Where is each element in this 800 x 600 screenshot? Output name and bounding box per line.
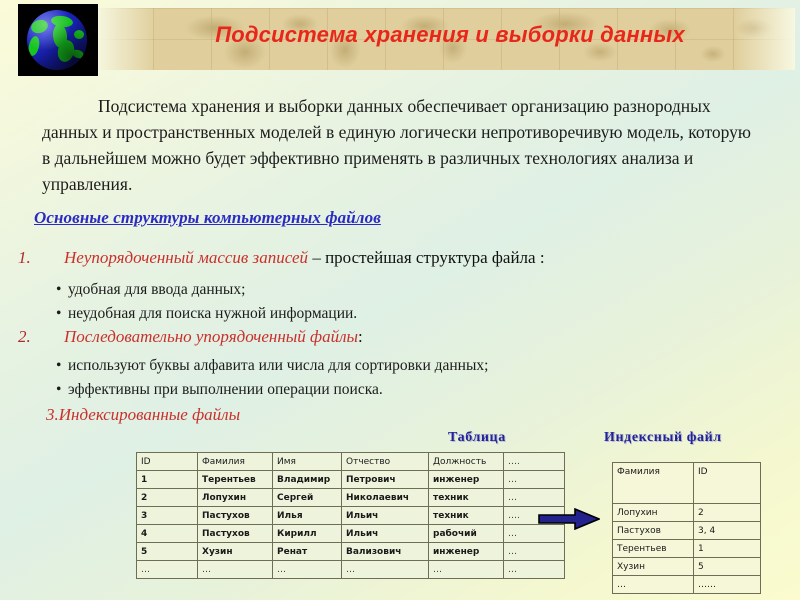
bullet-text: эффективны при выполнении операции поиск… <box>68 381 383 398</box>
table-header-row: Фамилия ID <box>613 463 761 504</box>
cell-firstname: Ренат <box>273 543 342 561</box>
bullet-item: •неудобная для поиска нужной информации. <box>56 305 357 323</box>
cell-surname: Лопухин <box>613 504 694 522</box>
cell-more: … <box>504 471 565 489</box>
list-item-number: 2. <box>18 327 64 347</box>
cell-surname: Терентьев <box>198 471 273 489</box>
cell-id: 3 <box>137 507 198 525</box>
globe-shading <box>27 10 87 70</box>
cell-id: 5 <box>694 558 761 576</box>
column-header: Должность <box>429 453 504 471</box>
list-item-number: 1. <box>18 248 64 268</box>
cell-more: … <box>504 543 565 561</box>
cell-id: …… <box>694 576 761 594</box>
index-file-caption: Индексный файл <box>604 430 722 446</box>
list-item-emphasis: Индексированные файлы <box>59 405 240 424</box>
cell-firstname: … <box>273 561 342 579</box>
bullet-glyph: • <box>56 381 68 399</box>
cell-position: техник <box>429 489 504 507</box>
table-header-row: ID Фамилия Имя Отчество Должность …. <box>137 453 565 471</box>
bullet-text: неудобная для поиска нужной информации. <box>68 305 357 322</box>
bullet-glyph: • <box>56 357 68 375</box>
cell-position: техник <box>429 507 504 525</box>
column-header: Отчество <box>342 453 429 471</box>
cell-id: 2 <box>137 489 198 507</box>
list-item-emphasis: Последовательно упорядоченный файлы <box>64 327 358 346</box>
list-item: 1.Неупорядоченный массив записей – прост… <box>18 248 778 268</box>
section-heading: Основные структуры компьютерных файлов <box>34 208 381 228</box>
cell-position: … <box>429 561 504 579</box>
table-row: 4 Пастухов Кирилл Ильич рабочий … <box>137 525 565 543</box>
cell-id: … <box>137 561 198 579</box>
table-row: … … … … … … <box>137 561 565 579</box>
column-header: ID <box>694 463 761 504</box>
cell-firstname: Сергей <box>273 489 342 507</box>
records-table: ID Фамилия Имя Отчество Должность …. 1 Т… <box>136 452 565 579</box>
bullet-glyph: • <box>56 305 68 323</box>
cell-position: инженер <box>429 543 504 561</box>
table-row: 5 Хузин Ренат Вализович инженер … <box>137 543 565 561</box>
cell-id: 2 <box>694 504 761 522</box>
right-arrow-icon <box>538 508 600 530</box>
cell-patronymic: Николаевич <box>342 489 429 507</box>
table-row: 2 Лопухин Сергей Николаевич техник … <box>137 489 565 507</box>
table-row: 1 Терентьев Владимир Петрович инженер … <box>137 471 565 489</box>
cell-firstname: Кирилл <box>273 525 342 543</box>
page-title: Подсистема хранения и выборки данных <box>110 22 790 48</box>
records-table-body: ID Фамилия Имя Отчество Должность …. 1 Т… <box>137 453 565 579</box>
cell-patronymic: … <box>342 561 429 579</box>
globe-sphere <box>27 10 87 70</box>
table-caption: Таблица <box>448 430 506 446</box>
cell-patronymic: Ильич <box>342 507 429 525</box>
cell-id: 4 <box>137 525 198 543</box>
cell-firstname: Илья <box>273 507 342 525</box>
cell-position: рабочий <box>429 525 504 543</box>
cell-more: … <box>504 561 565 579</box>
cell-position: инженер <box>429 471 504 489</box>
table-row: 3 Пастухов Илья Ильич техник …. <box>137 507 565 525</box>
cell-patronymic: Ильич <box>342 525 429 543</box>
cell-id: 1 <box>694 540 761 558</box>
cell-surname: … <box>613 576 694 594</box>
cell-surname: Лопухин <box>198 489 273 507</box>
list-item-number: 3. <box>46 405 59 424</box>
cell-surname: Пастухов <box>198 507 273 525</box>
cell-id: 3, 4 <box>694 522 761 540</box>
list-item: 2.Последовательно упорядоченный файлы: <box>18 327 778 347</box>
bullet-item: •используют буквы алфавита или числа для… <box>56 357 488 375</box>
cell-patronymic: Вализович <box>342 543 429 561</box>
table-row: Лопухин 2 <box>613 504 761 522</box>
table-row: … …… <box>613 576 761 594</box>
cell-surname: Пастухов <box>613 522 694 540</box>
cell-surname: Терентьев <box>613 540 694 558</box>
bullet-glyph: • <box>56 281 68 299</box>
cell-surname: Хузин <box>613 558 694 576</box>
cell-id: 1 <box>137 471 198 489</box>
bullet-item: •удобная для ввода данных; <box>56 281 245 299</box>
list-item-rest: : <box>358 327 363 346</box>
index-file-table-body: Фамилия ID Лопухин 2 Пастухов 3, 4 Терен… <box>613 463 761 594</box>
intro-paragraph: Подсистема хранения и выборки данных обе… <box>42 93 758 197</box>
table-row: Терентьев 1 <box>613 540 761 558</box>
column-header: …. <box>504 453 565 471</box>
globe-icon <box>18 4 98 76</box>
index-file-table: Фамилия ID Лопухин 2 Пастухов 3, 4 Терен… <box>612 462 761 594</box>
cell-surname: Хузин <box>198 543 273 561</box>
cell-surname: … <box>198 561 273 579</box>
list-item-emphasis: Неупорядоченный массив записей <box>64 248 308 267</box>
table-row: Пастухов 3, 4 <box>613 522 761 540</box>
list-item: 3.Индексированные файлы <box>46 405 240 425</box>
slide-canvas: Подсистема хранения и выборки данных Под… <box>0 0 800 600</box>
cell-more: … <box>504 489 565 507</box>
bullet-text: используют буквы алфавита или числа для … <box>68 357 488 374</box>
bullet-item: •эффективны при выполнении операции поис… <box>56 381 383 399</box>
column-header: Фамилия <box>613 463 694 504</box>
table-row: Хузин 5 <box>613 558 761 576</box>
column-header: ID <box>137 453 198 471</box>
cell-patronymic: Петрович <box>342 471 429 489</box>
list-item-rest: – простейшая структура файла : <box>308 248 545 267</box>
slide-header: Подсистема хранения и выборки данных <box>0 0 800 82</box>
column-header: Имя <box>273 453 342 471</box>
column-header: Фамилия <box>198 453 273 471</box>
cell-surname: Пастухов <box>198 525 273 543</box>
cell-firstname: Владимир <box>273 471 342 489</box>
cell-id: 5 <box>137 543 198 561</box>
bullet-text: удобная для ввода данных; <box>68 281 245 298</box>
